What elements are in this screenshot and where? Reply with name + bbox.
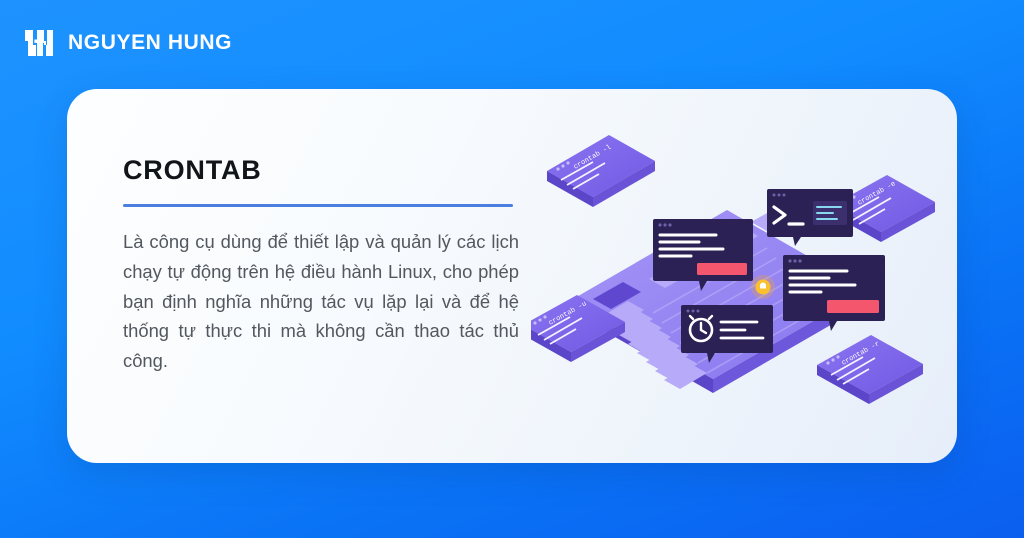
brand-logo[interactable]: NGUYEN HUNG (22, 26, 232, 60)
page-title: CRONTAB (123, 157, 523, 184)
content-card: CRONTAB Là công cụ dùng để thiết lập và … (67, 89, 957, 463)
crontab-isometric-illustration: crontab -l crontab -e (531, 127, 951, 427)
crontab-card-right-bottom: crontab -r (817, 335, 923, 404)
nh-monogram-icon (22, 26, 56, 60)
slide-canvas: NGUYEN HUNG CRONTAB Là công cụ dùng để t… (0, 0, 1024, 538)
text-column: CRONTAB Là công cụ dùng để thiết lập và … (123, 157, 523, 376)
task-list-popup (783, 255, 885, 331)
brand-name: NGUYEN HUNG (68, 31, 232, 55)
crontab-card-top-left: crontab -l (547, 135, 655, 207)
notification-badge (751, 275, 775, 299)
popup-accent-bar (697, 263, 747, 275)
schedule-popup (653, 219, 753, 291)
popup-accent-bar (827, 300, 879, 313)
description-text: Là công cụ dùng để thiết lập và quản lý … (123, 227, 519, 376)
title-divider (123, 204, 513, 207)
terminal-popup (767, 189, 853, 246)
bell-icon (760, 283, 766, 289)
